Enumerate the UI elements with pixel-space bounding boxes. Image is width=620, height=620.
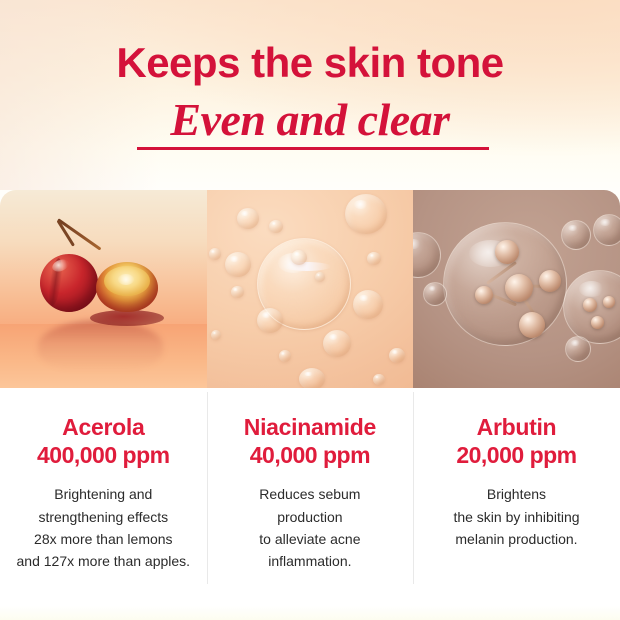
ingredient-description: Brightens the skin by inhibiting melanin… (425, 483, 608, 550)
ingredient-concentration: 20,000 ppm (425, 441, 608, 469)
ingredient-name: Arbutin (425, 414, 608, 441)
droplet (315, 272, 325, 282)
niacinamide-photo (207, 190, 414, 388)
ingredient-description: Reduces sebum production to alleviate ac… (219, 483, 402, 573)
acerola-photo (0, 190, 207, 388)
header-banner: Keeps the skin tone Even and clear (0, 0, 620, 190)
droplet (323, 330, 351, 357)
ingredient-card-arbutin: Arbutin 20,000 ppm Brightens the skin by… (413, 388, 620, 620)
molecule-bubble (413, 232, 441, 278)
molecule-bubble (565, 336, 591, 362)
ingredient-description: Brightening and strengthening effects 28… (12, 483, 195, 573)
droplet (237, 208, 259, 229)
ingredient-concentration: 400,000 ppm (12, 441, 195, 469)
droplet (257, 308, 283, 333)
droplet (269, 220, 283, 233)
ingredient-card-niacinamide: Niacinamide 40,000 ppm Reduces sebum pro… (207, 388, 414, 620)
headline-secondary: Even and clear (164, 96, 455, 150)
droplet (389, 348, 405, 363)
droplet (291, 250, 307, 265)
molecule-atom (495, 240, 519, 264)
product-benefit-poster: Keeps the skin tone Even and clear (0, 0, 620, 620)
molecule-atom (505, 274, 533, 302)
acerola-reflection (38, 320, 163, 372)
droplet (225, 252, 251, 277)
arbutin-photo (413, 190, 620, 388)
droplet (345, 194, 387, 234)
headline-underline (137, 147, 489, 150)
droplet (367, 252, 381, 265)
ingredient-image-strip (0, 190, 620, 388)
ingredient-card-acerola: Acerola 400,000 ppm Brightening and stre… (0, 388, 207, 620)
droplet (373, 374, 385, 385)
droplet (211, 330, 221, 340)
molecule-atom (519, 312, 545, 338)
cherry-stem-icon (57, 218, 101, 250)
droplet (279, 350, 291, 362)
ingredient-name: Niacinamide (219, 414, 402, 441)
ingredient-concentration: 40,000 ppm (219, 441, 402, 469)
droplet (231, 286, 244, 298)
ingredient-name: Acerola (12, 414, 195, 441)
droplet (353, 290, 383, 319)
ingredient-info-columns: Acerola 400,000 ppm Brightening and stre… (0, 388, 620, 620)
molecule-bubble (561, 220, 591, 250)
header-gradient-overlay (0, 0, 160, 190)
cherry-half-core (118, 274, 134, 285)
droplet (209, 248, 221, 260)
droplet-primary-highlight (283, 262, 331, 271)
headline-secondary-wrap: Even and clear (0, 96, 620, 150)
molecule-bubble (423, 282, 447, 306)
droplet (299, 368, 325, 388)
juice-pool (90, 310, 164, 326)
headline-primary: Keeps the skin tone (0, 42, 620, 84)
molecule-bubble (593, 214, 620, 246)
